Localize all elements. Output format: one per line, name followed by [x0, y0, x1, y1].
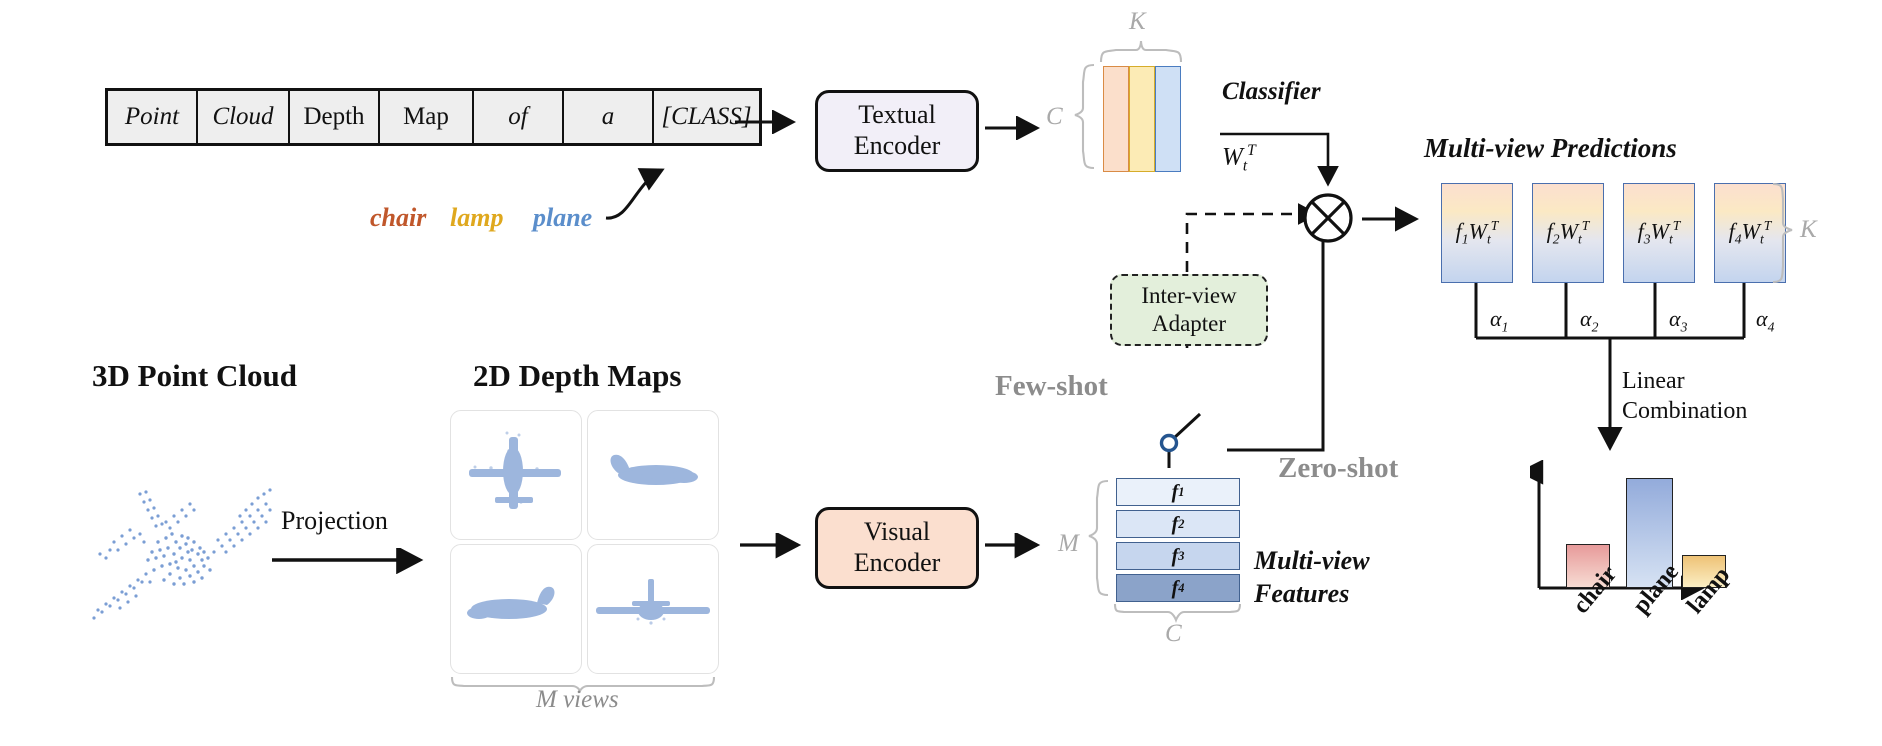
point-cloud-title: 3D Point Cloud: [92, 358, 297, 394]
feature-3-sub: 3: [1178, 549, 1184, 564]
arrow-textual-encoder-to-classifier: [985, 116, 1055, 140]
arrow-visual-encoder-to-features: [985, 533, 1055, 559]
feature-4-sub: 4: [1178, 581, 1184, 596]
classifier-k-brace: [1098, 38, 1184, 64]
pred1-sub: 1: [1462, 232, 1469, 247]
features-title-line2: Features: [1254, 578, 1370, 611]
point-cloud-plane-visual: [70, 430, 290, 640]
depth-map-plane-side-view: [588, 411, 718, 539]
pred2-sub: 2: [1553, 232, 1560, 247]
arrow-prompt-to-textual-encoder: [735, 110, 809, 134]
depth-map-plane-front-view: [588, 545, 718, 673]
pred2-w: W: [1560, 218, 1578, 243]
textual-encoder-line2: Encoder: [854, 131, 941, 162]
classifier-dim-c-brace: [1072, 62, 1098, 174]
features-title-line1: Multi-view: [1254, 545, 1370, 578]
classifier-column-lamp: [1129, 66, 1155, 172]
multi-view-features-title: Multi-view Features: [1254, 545, 1370, 611]
alpha-2: α2: [1580, 306, 1598, 335]
pred3-wsub: t: [1669, 232, 1673, 247]
alpha-1-sub: 1: [1502, 319, 1509, 334]
prompt-token-cloud[interactable]: Cloud: [198, 91, 290, 143]
alpha-3-sub: 3: [1681, 319, 1688, 334]
textual-encoder-box[interactable]: Textual Encoder: [815, 90, 979, 172]
prompt-token-map[interactable]: Map: [380, 91, 474, 143]
arrow-to-final-prediction-chart: [1596, 390, 1624, 468]
linear-combination-line1: Linear: [1622, 366, 1747, 396]
arrow-depthmaps-to-visual-encoder: [740, 533, 814, 559]
pred4-sub: 4: [1735, 232, 1742, 247]
prediction-box-1: f1WtT: [1441, 183, 1513, 283]
classifier-dim-k: K: [1129, 8, 1146, 36]
alpha-2-sub: 2: [1592, 319, 1599, 334]
feature-1-label: f: [1172, 481, 1179, 504]
linear-combination-line2: Combination: [1622, 396, 1747, 426]
classifier-dim-c: C: [1046, 103, 1063, 131]
pred1-w: W: [1469, 218, 1487, 243]
class-word-chair: chair: [370, 203, 426, 233]
pred1-wsup: T: [1491, 218, 1499, 233]
pred2-wsub: t: [1578, 232, 1582, 247]
pred4-wsub: t: [1760, 232, 1764, 247]
prediction-boxes-row: f1WtT f2WtT f3WtT f4WtT: [1441, 183, 1786, 283]
classifier-weight-matrix: [1103, 66, 1181, 170]
projection-label: Projection: [281, 506, 388, 536]
zero-shot-label: Zero-shot: [1278, 452, 1398, 485]
class-insert-arrow-icon: [600, 140, 720, 230]
depth-map-thumbnail-3[interactable]: [450, 544, 582, 674]
pred1-wsub: t: [1487, 232, 1491, 247]
depth-map-thumbnail-1[interactable]: [450, 410, 582, 540]
alpha-4-sub: 4: [1768, 319, 1775, 334]
prediction-bar-chart: chair plane lamp: [1530, 460, 1720, 600]
features-dim-m: M: [1058, 530, 1079, 558]
predictions-k-brace: [1770, 181, 1796, 285]
prediction-box-2: f2WtT: [1532, 183, 1604, 283]
depth-map-thumbnail-2[interactable]: [587, 410, 719, 540]
arrow-operator-to-predictions: [1362, 206, 1432, 232]
alpha-4: α4: [1756, 306, 1774, 335]
feature-bar-4: f4: [1116, 574, 1240, 602]
alpha-1: α1: [1490, 306, 1508, 335]
prompt-token-depth[interactable]: Depth: [290, 91, 380, 143]
visual-encoder-line1: Visual: [864, 517, 930, 548]
class-word-lamp: lamp: [450, 203, 503, 233]
multi-view-predictions-title: Multi-view Predictions: [1424, 133, 1677, 164]
pred2-wsup: T: [1582, 218, 1590, 233]
classifier-label: Classifier: [1222, 78, 1321, 106]
features-dim-c: C: [1165, 620, 1182, 648]
pred3-wsup: T: [1673, 218, 1681, 233]
prompt-token-point[interactable]: Point: [108, 91, 198, 143]
prompt-template-row[interactable]: Point Cloud Depth Map of a [CLASS]: [105, 88, 762, 146]
classifier-column-chair: [1103, 66, 1129, 172]
alpha-3: α3: [1669, 306, 1687, 335]
visual-encoder-line2: Encoder: [854, 548, 941, 579]
depth-map-thumbnail-4[interactable]: [587, 544, 719, 674]
textual-encoder-line1: Textual: [858, 100, 936, 131]
feature-bar-3: f3: [1116, 542, 1240, 570]
feature-bar-1: f1: [1116, 478, 1240, 506]
multiply-circle-icon: [1300, 190, 1356, 246]
few-shot-label: Few-shot: [995, 370, 1108, 403]
m-views-caption: M views: [536, 686, 619, 714]
features-m-brace: [1086, 478, 1112, 600]
prompt-token-a[interactable]: a: [564, 91, 654, 143]
linear-combination-label: Linear Combination: [1622, 366, 1747, 426]
classifier-column-plane: [1155, 66, 1181, 172]
pred4-w: W: [1742, 218, 1760, 243]
feature-bar-2: f2: [1116, 510, 1240, 538]
feature-1-sub: 1: [1178, 485, 1184, 500]
feature-2-sub: 2: [1178, 517, 1184, 532]
prompt-token-of[interactable]: of: [474, 91, 564, 143]
depth-maps-title: 2D Depth Maps: [473, 358, 681, 394]
predictions-dim-k: K: [1800, 216, 1817, 244]
arrow-projection: [272, 548, 442, 574]
pred3-sub: 3: [1644, 232, 1651, 247]
depth-map-plane-side-view-mirrored: [451, 545, 581, 673]
class-word-plane: plane: [533, 203, 592, 233]
pred3-w: W: [1651, 218, 1669, 243]
depth-map-plane-top-view: [451, 411, 581, 539]
visual-encoder-box[interactable]: Visual Encoder: [815, 507, 979, 589]
multi-view-feature-stack: f1 f2 f3 f4: [1116, 478, 1240, 602]
prediction-box-3: f3WtT: [1623, 183, 1695, 283]
